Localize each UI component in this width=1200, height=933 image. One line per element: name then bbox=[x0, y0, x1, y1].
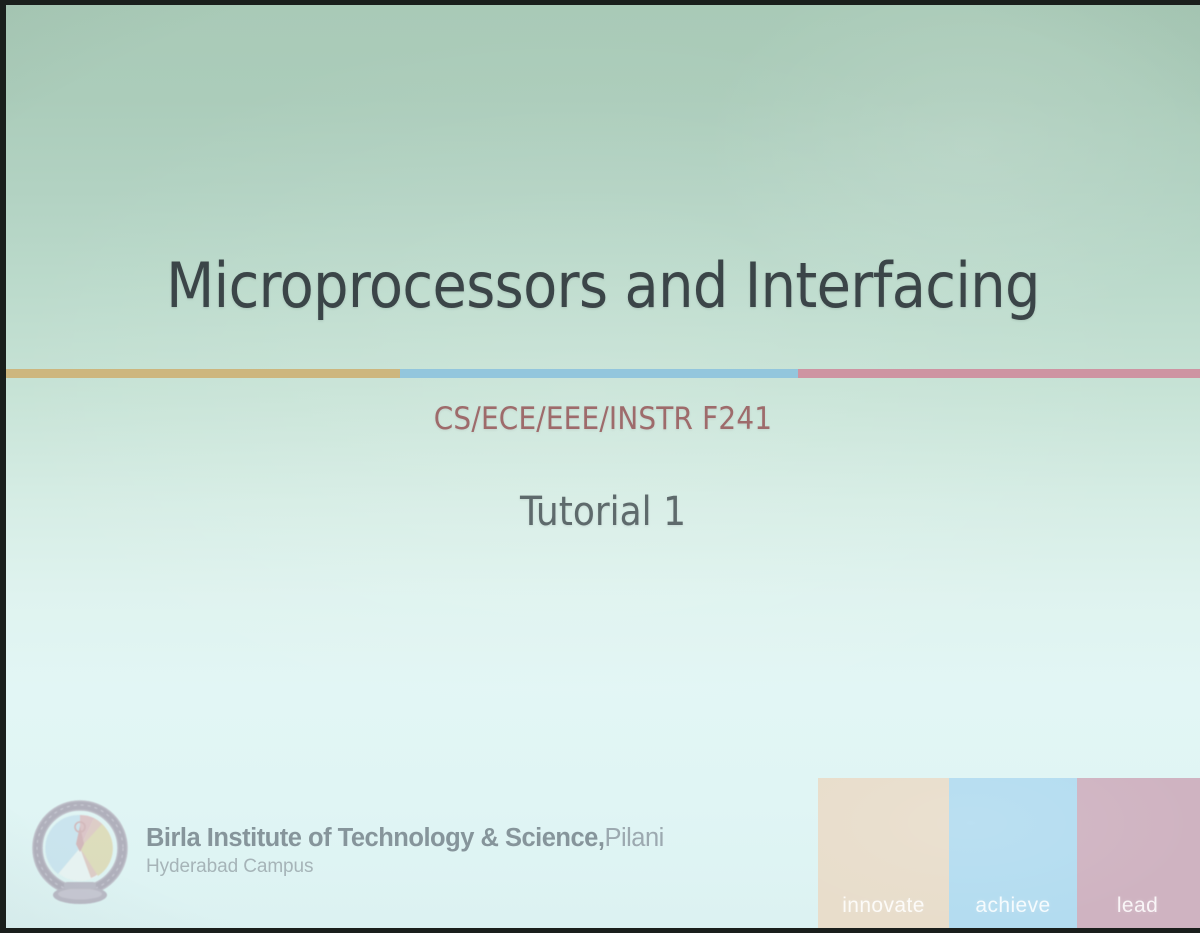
tagline-blocks: innovate achieve lead bbox=[818, 778, 1200, 928]
accent-segment-blue bbox=[400, 369, 798, 378]
tagline-word-achieve: achieve bbox=[975, 894, 1050, 928]
institute-name: Birla Institute of Technology & Science,… bbox=[146, 824, 664, 853]
brand-text-block: Birla Institute of Technology & Science,… bbox=[146, 824, 664, 882]
campus-name: Hyderabad Campus bbox=[146, 856, 664, 878]
accent-segment-gold bbox=[6, 369, 400, 378]
accent-divider-rule bbox=[6, 369, 1200, 378]
tagline-word-innovate: innovate bbox=[842, 894, 925, 928]
tagline-block-achieve: achieve bbox=[949, 778, 1077, 928]
tagline-block-lead: lead bbox=[1077, 778, 1200, 928]
tagline-word-lead: lead bbox=[1117, 894, 1160, 928]
tagline-block-innovate: innovate bbox=[818, 778, 949, 928]
presentation-slide-photo: Microprocessors and Interfacing CS/ECE/E… bbox=[0, 0, 1200, 933]
slide-title: Microprocessors and Interfacing bbox=[6, 253, 1200, 318]
bits-pilani-seal-icon bbox=[28, 800, 132, 906]
brand-lockup: Birla Institute of Technology & Science,… bbox=[28, 800, 664, 906]
institute-name-bold: Birla Institute of Technology & Science, bbox=[146, 824, 604, 852]
institute-name-light: Pilani bbox=[604, 824, 663, 852]
accent-segment-rose bbox=[798, 369, 1200, 378]
title-block: Microprocessors and Interfacing bbox=[6, 253, 1200, 318]
slide-surface: Microprocessors and Interfacing CS/ECE/E… bbox=[6, 5, 1200, 928]
tutorial-label: Tutorial 1 bbox=[6, 489, 1200, 535]
course-code-subtitle: CS/ECE/EEE/INSTR F241 bbox=[6, 401, 1200, 437]
